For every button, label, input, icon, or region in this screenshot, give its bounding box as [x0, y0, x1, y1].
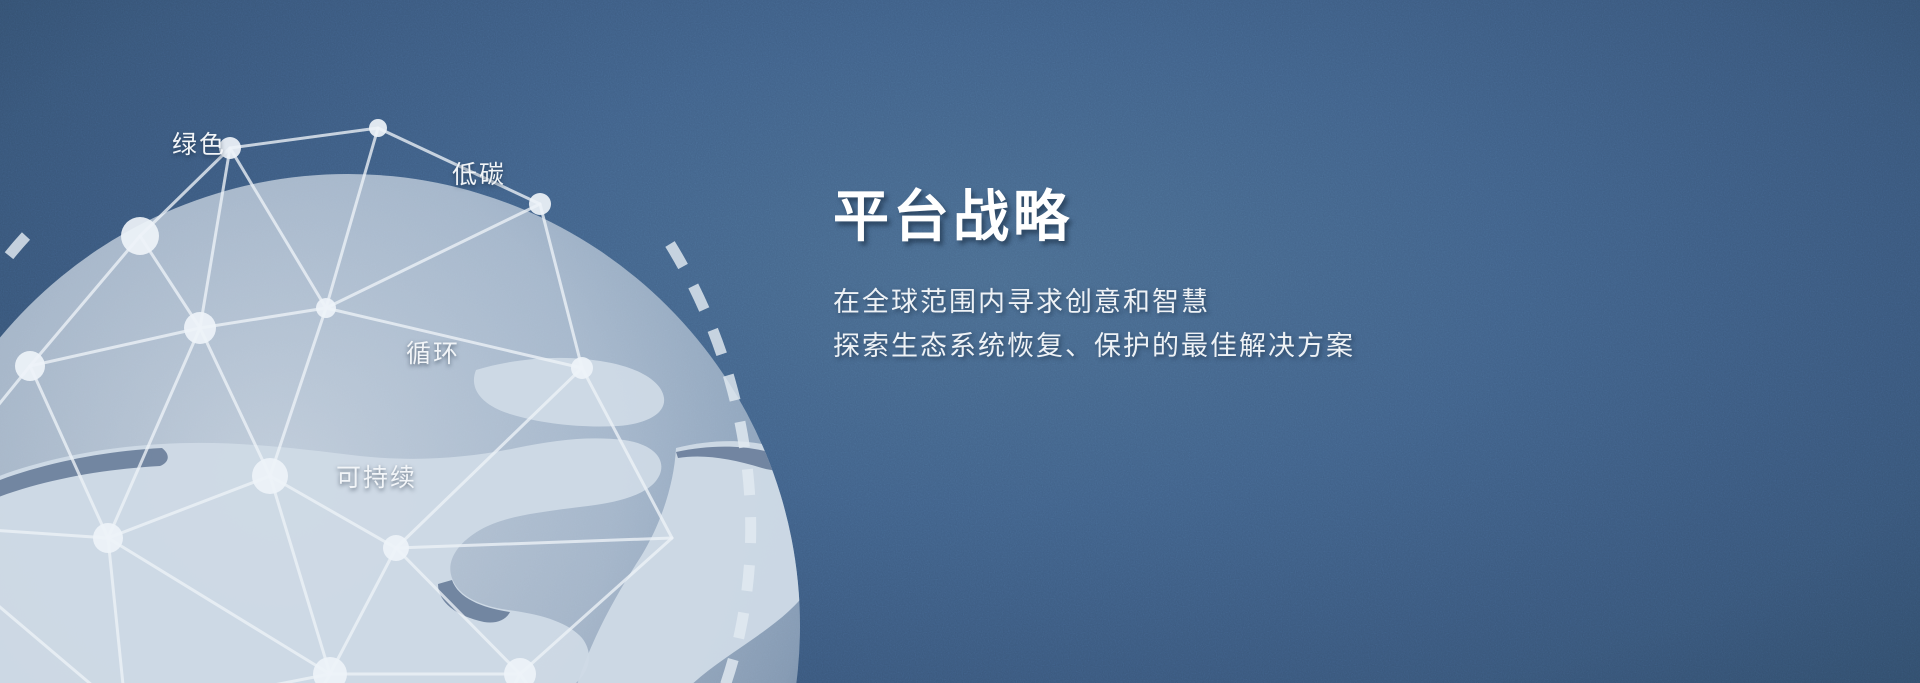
- hero-subtitle-line-1: 在全球范围内寻求创意和智慧: [833, 281, 1753, 325]
- globe-label-green: 绿色: [172, 125, 226, 161]
- globe-label-circular: 循环: [406, 334, 460, 370]
- hero-subtitle-line-2: 探索生态系统恢复、保护的最佳解决方案: [833, 325, 1753, 369]
- globe-label-low-carbon: 低碳: [452, 155, 506, 191]
- hero-headline: 平台战略: [833, 186, 1753, 251]
- globe-label-sustainable: 可持续: [336, 458, 417, 494]
- hero-banner: 绿色 低碳 循环 可持续 平台战略 在全球范围内寻求创意和智慧 探索生态系统恢复…: [0, 0, 1920, 683]
- hero-copy-block: 平台战略 在全球范围内寻求创意和智慧 探索生态系统恢复、保护的最佳解决方案: [833, 186, 1753, 368]
